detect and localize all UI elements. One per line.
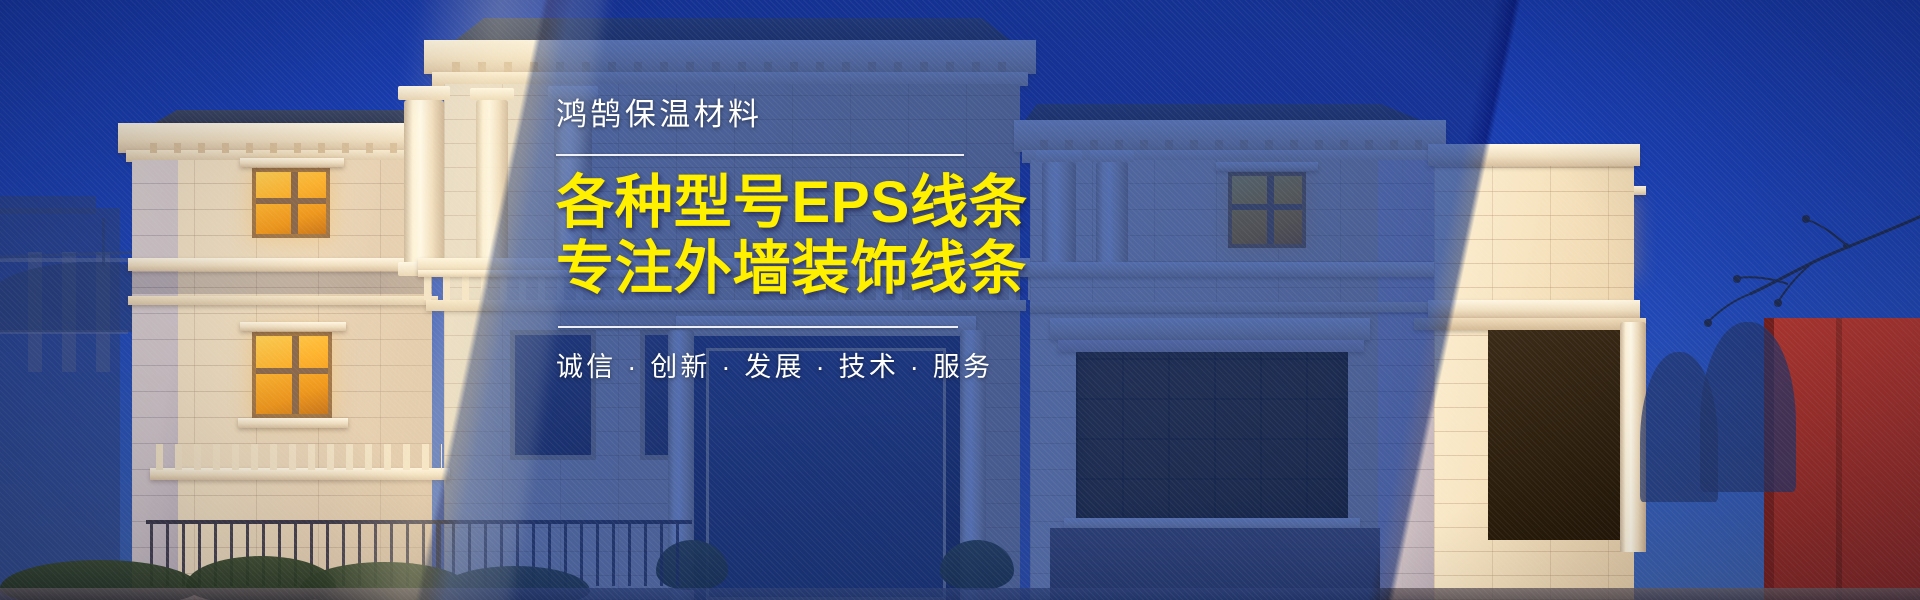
divider-top [556, 154, 964, 156]
banner-copy-block: 鸿鹄保温材料 各种型号EPS线条 专注外墙装饰线条 诚信 · 创新 · 发展 ·… [556, 96, 1316, 384]
company-slogan: 诚信 · 创新 · 发展 · 技术 · 服务 [556, 345, 1316, 384]
company-name: 鸿鹄保温材料 [556, 96, 1316, 133]
divider-bottom [558, 326, 958, 328]
headline-line-1: 各种型号EPS线条 [556, 170, 1316, 236]
hero-banner: 鸿鹄保温材料 各种型号EPS线条 专注外墙装饰线条 诚信 · 创新 · 发展 ·… [0, 0, 1920, 600]
headline-line-2: 专注外墙装饰线条 [556, 236, 1316, 302]
